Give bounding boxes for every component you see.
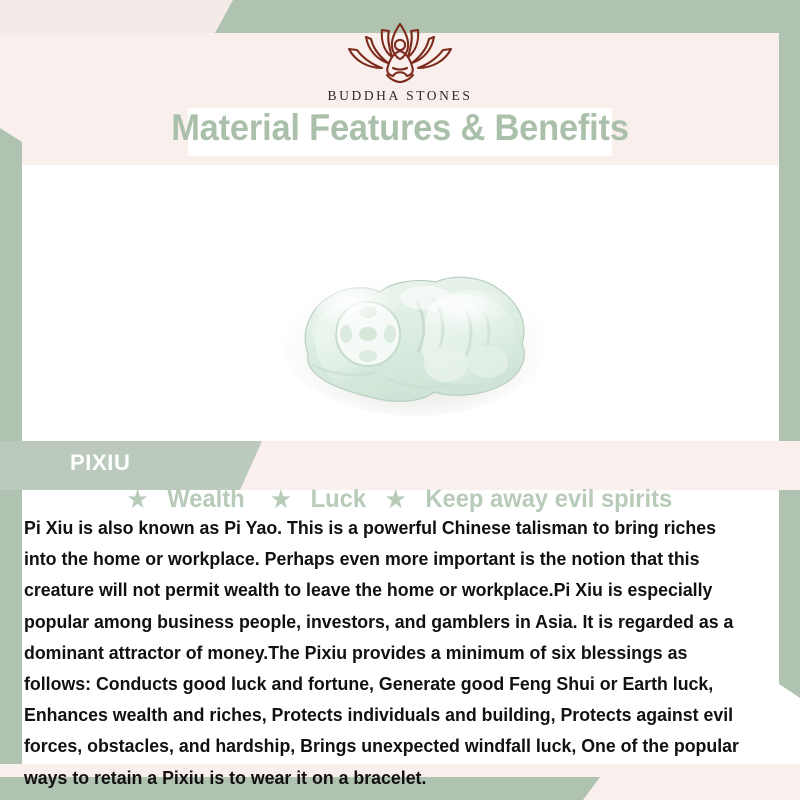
- lotus-meditation-icon: [335, 18, 465, 86]
- star-icon: ★: [271, 486, 291, 512]
- section-label: PIXIU: [70, 450, 130, 476]
- star-icon: ★: [386, 486, 406, 512]
- benefits-row: ★ Wealth ★ Luck ★ Keep away evil spirits: [20, 485, 780, 514]
- brand-logo: BUDDHA STONES: [0, 18, 800, 104]
- benefit-item-wealth: Wealth: [167, 485, 244, 513]
- brand-name: BUDDHA STONES: [0, 88, 800, 104]
- section-label-banner: [0, 441, 262, 490]
- description-text: Pi Xiu is also known as Pi Yao. This is …: [24, 512, 750, 793]
- page-title: Material Features & Benefits: [28, 107, 772, 149]
- star-icon: ★: [128, 486, 148, 512]
- benefit-item-luck: Luck: [311, 485, 366, 513]
- product-image-pixiu: [276, 252, 554, 424]
- infographic-page: BUDDHA STONES Material Features & Benefi…: [0, 0, 800, 800]
- decor-right-bar: [779, 0, 800, 698]
- benefit-item-evil-spirits: Keep away evil spirits: [425, 485, 672, 513]
